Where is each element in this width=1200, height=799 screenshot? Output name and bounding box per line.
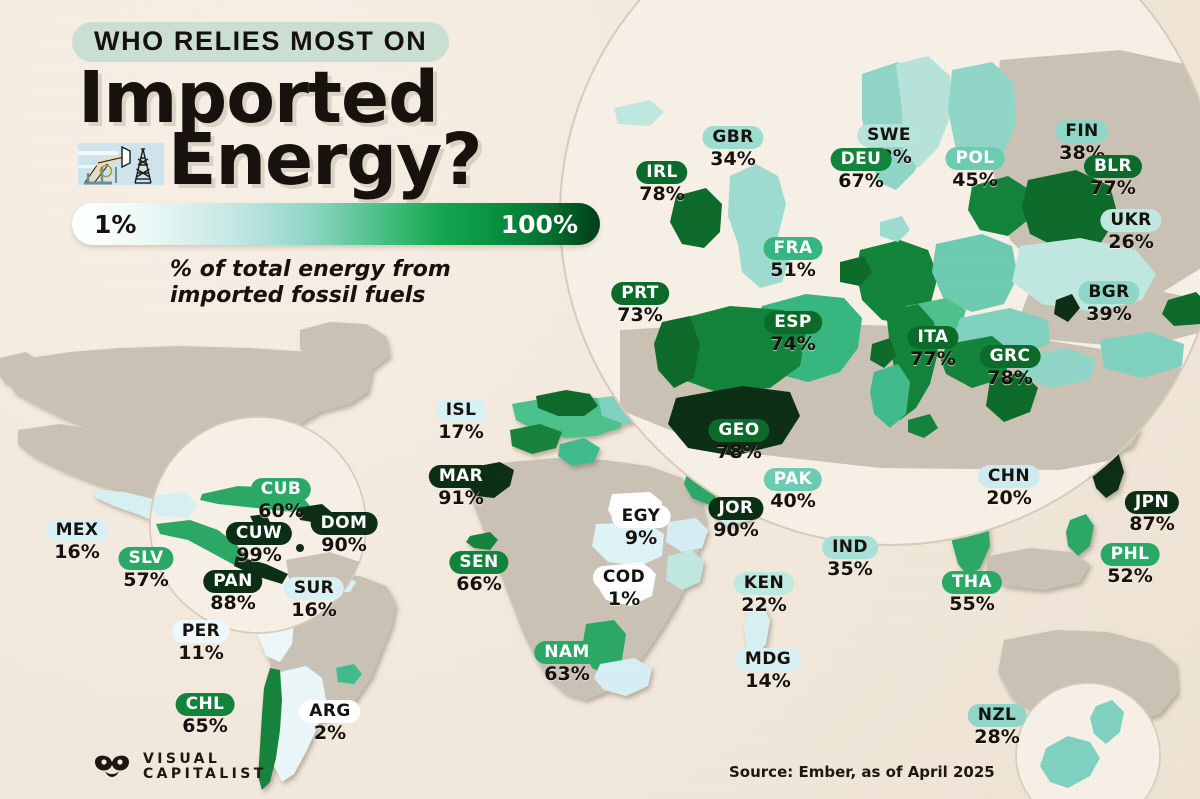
country-value: 9% (612, 527, 671, 549)
country-value: 14% (735, 670, 801, 692)
country-value: 99% (226, 544, 292, 566)
infographic-canvas: WHO RELIES MOST ON Imported (0, 0, 1200, 799)
country-code-pill: FRA (763, 237, 822, 260)
country-label-jor[interactable]: JOR90% (708, 497, 763, 541)
country-label-ind[interactable]: IND35% (822, 536, 878, 580)
country-code-pill: PAN (203, 570, 262, 593)
country-label-prt[interactable]: PRT73% (611, 282, 669, 326)
country-code-pill: THA (942, 571, 1002, 594)
country-value: 1% (593, 588, 655, 610)
country-value: 87% (1125, 513, 1179, 535)
country-value: 40% (764, 490, 822, 512)
country-value: 73% (611, 304, 669, 326)
country-code-pill: UKR (1100, 209, 1161, 232)
country-code-pill: ARG (299, 700, 360, 723)
country-label-grc[interactable]: GRC78% (980, 345, 1041, 389)
country-value: 35% (822, 558, 878, 580)
country-label-gbr[interactable]: GBR34% (702, 126, 763, 170)
country-value: 78% (708, 441, 769, 463)
country-value: 11% (172, 642, 230, 664)
country-label-ita[interactable]: ITA77% (908, 326, 959, 370)
country-label-mex[interactable]: MEX16% (46, 519, 109, 563)
country-value: 90% (311, 534, 378, 556)
country-label-arg[interactable]: ARG2% (299, 700, 360, 744)
legend-gradient-bar: 1% 100% (72, 203, 600, 245)
country-label-bgr[interactable]: BGR39% (1078, 281, 1139, 325)
country-value: 39% (1078, 303, 1139, 325)
country-code-pill: DOM (311, 512, 378, 535)
country-value: 77% (908, 348, 959, 370)
country-label-irl[interactable]: IRL78% (636, 161, 687, 205)
country-value: 34% (702, 148, 763, 170)
country-value: 60% (251, 500, 311, 522)
country-code-pill: COD (593, 566, 655, 589)
country-label-pan[interactable]: PAN88% (203, 570, 262, 614)
country-label-mar[interactable]: MAR91% (429, 465, 493, 509)
page-title-line2: Energy? (168, 130, 482, 190)
country-value: 57% (118, 569, 173, 591)
country-code-pill: CHN (978, 465, 1040, 488)
country-label-phl[interactable]: PHL52% (1101, 543, 1160, 587)
country-value: 2% (299, 722, 360, 744)
country-value: 90% (708, 519, 763, 541)
country-label-fra[interactable]: FRA51% (763, 237, 822, 281)
country-value: 45% (946, 169, 1005, 191)
country-label-nam[interactable]: NAM63% (534, 641, 600, 685)
country-label-esp[interactable]: ESP74% (764, 311, 822, 355)
country-code-pill: DEU (831, 148, 892, 171)
country-label-pol[interactable]: POL45% (946, 147, 1005, 191)
country-value: 16% (46, 541, 109, 563)
country-value: 66% (449, 573, 508, 595)
country-label-cuw[interactable]: CUW99% (226, 522, 292, 566)
legend-subtitle-line1: % of total energy from (170, 257, 612, 283)
country-value: 74% (764, 333, 822, 355)
country-label-tha[interactable]: THA55% (942, 571, 1002, 615)
country-code-pill: NZL (968, 704, 1027, 727)
country-code-pill: SEN (449, 551, 508, 574)
country-code-pill: FIN (1055, 120, 1108, 143)
country-code-pill: ISL (436, 399, 487, 422)
country-code-pill: MAR (429, 465, 493, 488)
country-code-pill: SLV (118, 547, 173, 570)
country-code-pill: BGR (1078, 281, 1139, 304)
country-label-sur[interactable]: SUR16% (284, 577, 344, 621)
country-value: 28% (968, 726, 1027, 748)
country-label-dom[interactable]: DOM90% (311, 512, 378, 556)
country-label-slv[interactable]: SLV57% (118, 547, 173, 591)
country-label-cod[interactable]: COD1% (593, 566, 655, 610)
country-code-pill: IRL (636, 161, 687, 184)
country-value: 20% (978, 487, 1040, 509)
europe-inset-circle (556, 0, 1200, 545)
country-code-pill: SUR (284, 577, 344, 600)
country-code-pill: MEX (46, 519, 109, 542)
brand-line-1: VISUAL (143, 752, 267, 767)
country-code-pill: SWE (857, 124, 921, 147)
country-label-pak[interactable]: PAK40% (764, 468, 822, 512)
country-code-pill: KEN (734, 572, 794, 595)
country-label-per[interactable]: PER11% (172, 620, 230, 664)
brand-line-2: CAPITALIST (143, 767, 267, 782)
country-code-pill: GRC (980, 345, 1041, 368)
country-code-pill: POL (946, 147, 1005, 170)
country-value: 77% (1084, 177, 1142, 199)
country-code-pill: ESP (764, 311, 822, 334)
country-value: 78% (636, 183, 687, 205)
country-code-pill: GBR (702, 126, 763, 149)
country-value: 65% (176, 715, 235, 737)
country-value: 78% (980, 367, 1041, 389)
country-code-pill: PRT (611, 282, 669, 305)
country-value: 22% (734, 594, 794, 616)
source-note: Source: Ember, as of April 2025 (729, 763, 995, 781)
country-value: 51% (763, 259, 822, 281)
country-value: 52% (1101, 565, 1160, 587)
country-code-pill: CUW (226, 522, 292, 545)
country-code-pill: PAK (764, 468, 822, 491)
country-code-pill: CHL (176, 693, 235, 716)
country-code-pill: NAM (534, 641, 600, 664)
country-label-chl[interactable]: CHL65% (176, 693, 235, 737)
country-label-sen[interactable]: SEN66% (449, 551, 508, 595)
legend-min-label: 1% (94, 210, 136, 239)
country-code-pill: EGY (612, 505, 671, 528)
country-label-isl[interactable]: ISL17% (436, 399, 487, 443)
country-value: 16% (284, 599, 344, 621)
header-block: WHO RELIES MOST ON Imported (72, 22, 612, 308)
country-code-pill: PHL (1101, 543, 1160, 566)
country-value: 63% (534, 663, 600, 685)
legend-subtitle: % of total energy from imported fossil f… (170, 257, 612, 308)
country-label-deu[interactable]: DEU67% (831, 148, 892, 192)
country-code-pill: PER (172, 620, 230, 643)
brand-name: VISUAL CAPITALIST (143, 752, 267, 782)
country-value: 67% (831, 170, 892, 192)
country-code-pill: JPN (1125, 491, 1179, 514)
country-label-chn[interactable]: CHN20% (978, 465, 1040, 509)
country-value: 55% (942, 593, 1002, 615)
country-code-pill: IND (822, 536, 878, 559)
country-label-jpn[interactable]: JPN87% (1125, 491, 1179, 535)
country-label-ken[interactable]: KEN22% (734, 572, 794, 616)
legend-max-label: 100% (501, 210, 578, 239)
country-value: 26% (1100, 231, 1161, 253)
country-label-cub[interactable]: CUB60% (251, 478, 311, 522)
country-label-mdg[interactable]: MDG14% (735, 648, 801, 692)
country-code-pill: BLR (1084, 155, 1142, 178)
country-code-pill: GEO (708, 419, 769, 442)
country-value: 91% (429, 487, 493, 509)
legend-subtitle-line2: imported fossil fuels (170, 283, 612, 309)
country-code-pill: MDG (735, 648, 801, 671)
country-label-blr[interactable]: BLR77% (1084, 155, 1142, 199)
country-value: 88% (203, 592, 262, 614)
country-value: 17% (436, 421, 487, 443)
brand-logo-block[interactable]: VISUAL CAPITALIST (92, 752, 267, 782)
country-label-egy[interactable]: EGY9% (612, 505, 671, 549)
country-code-pill: ITA (908, 326, 959, 349)
country-code-pill: CUB (251, 478, 311, 501)
visual-capitalist-logo (92, 753, 132, 781)
country-label-ukr[interactable]: UKR26% (1100, 209, 1161, 253)
country-label-geo[interactable]: GEO78% (708, 419, 769, 463)
country-label-nzl[interactable]: NZL28% (968, 704, 1027, 748)
oil-rig-icon (78, 139, 164, 189)
country-code-pill: JOR (708, 497, 763, 520)
